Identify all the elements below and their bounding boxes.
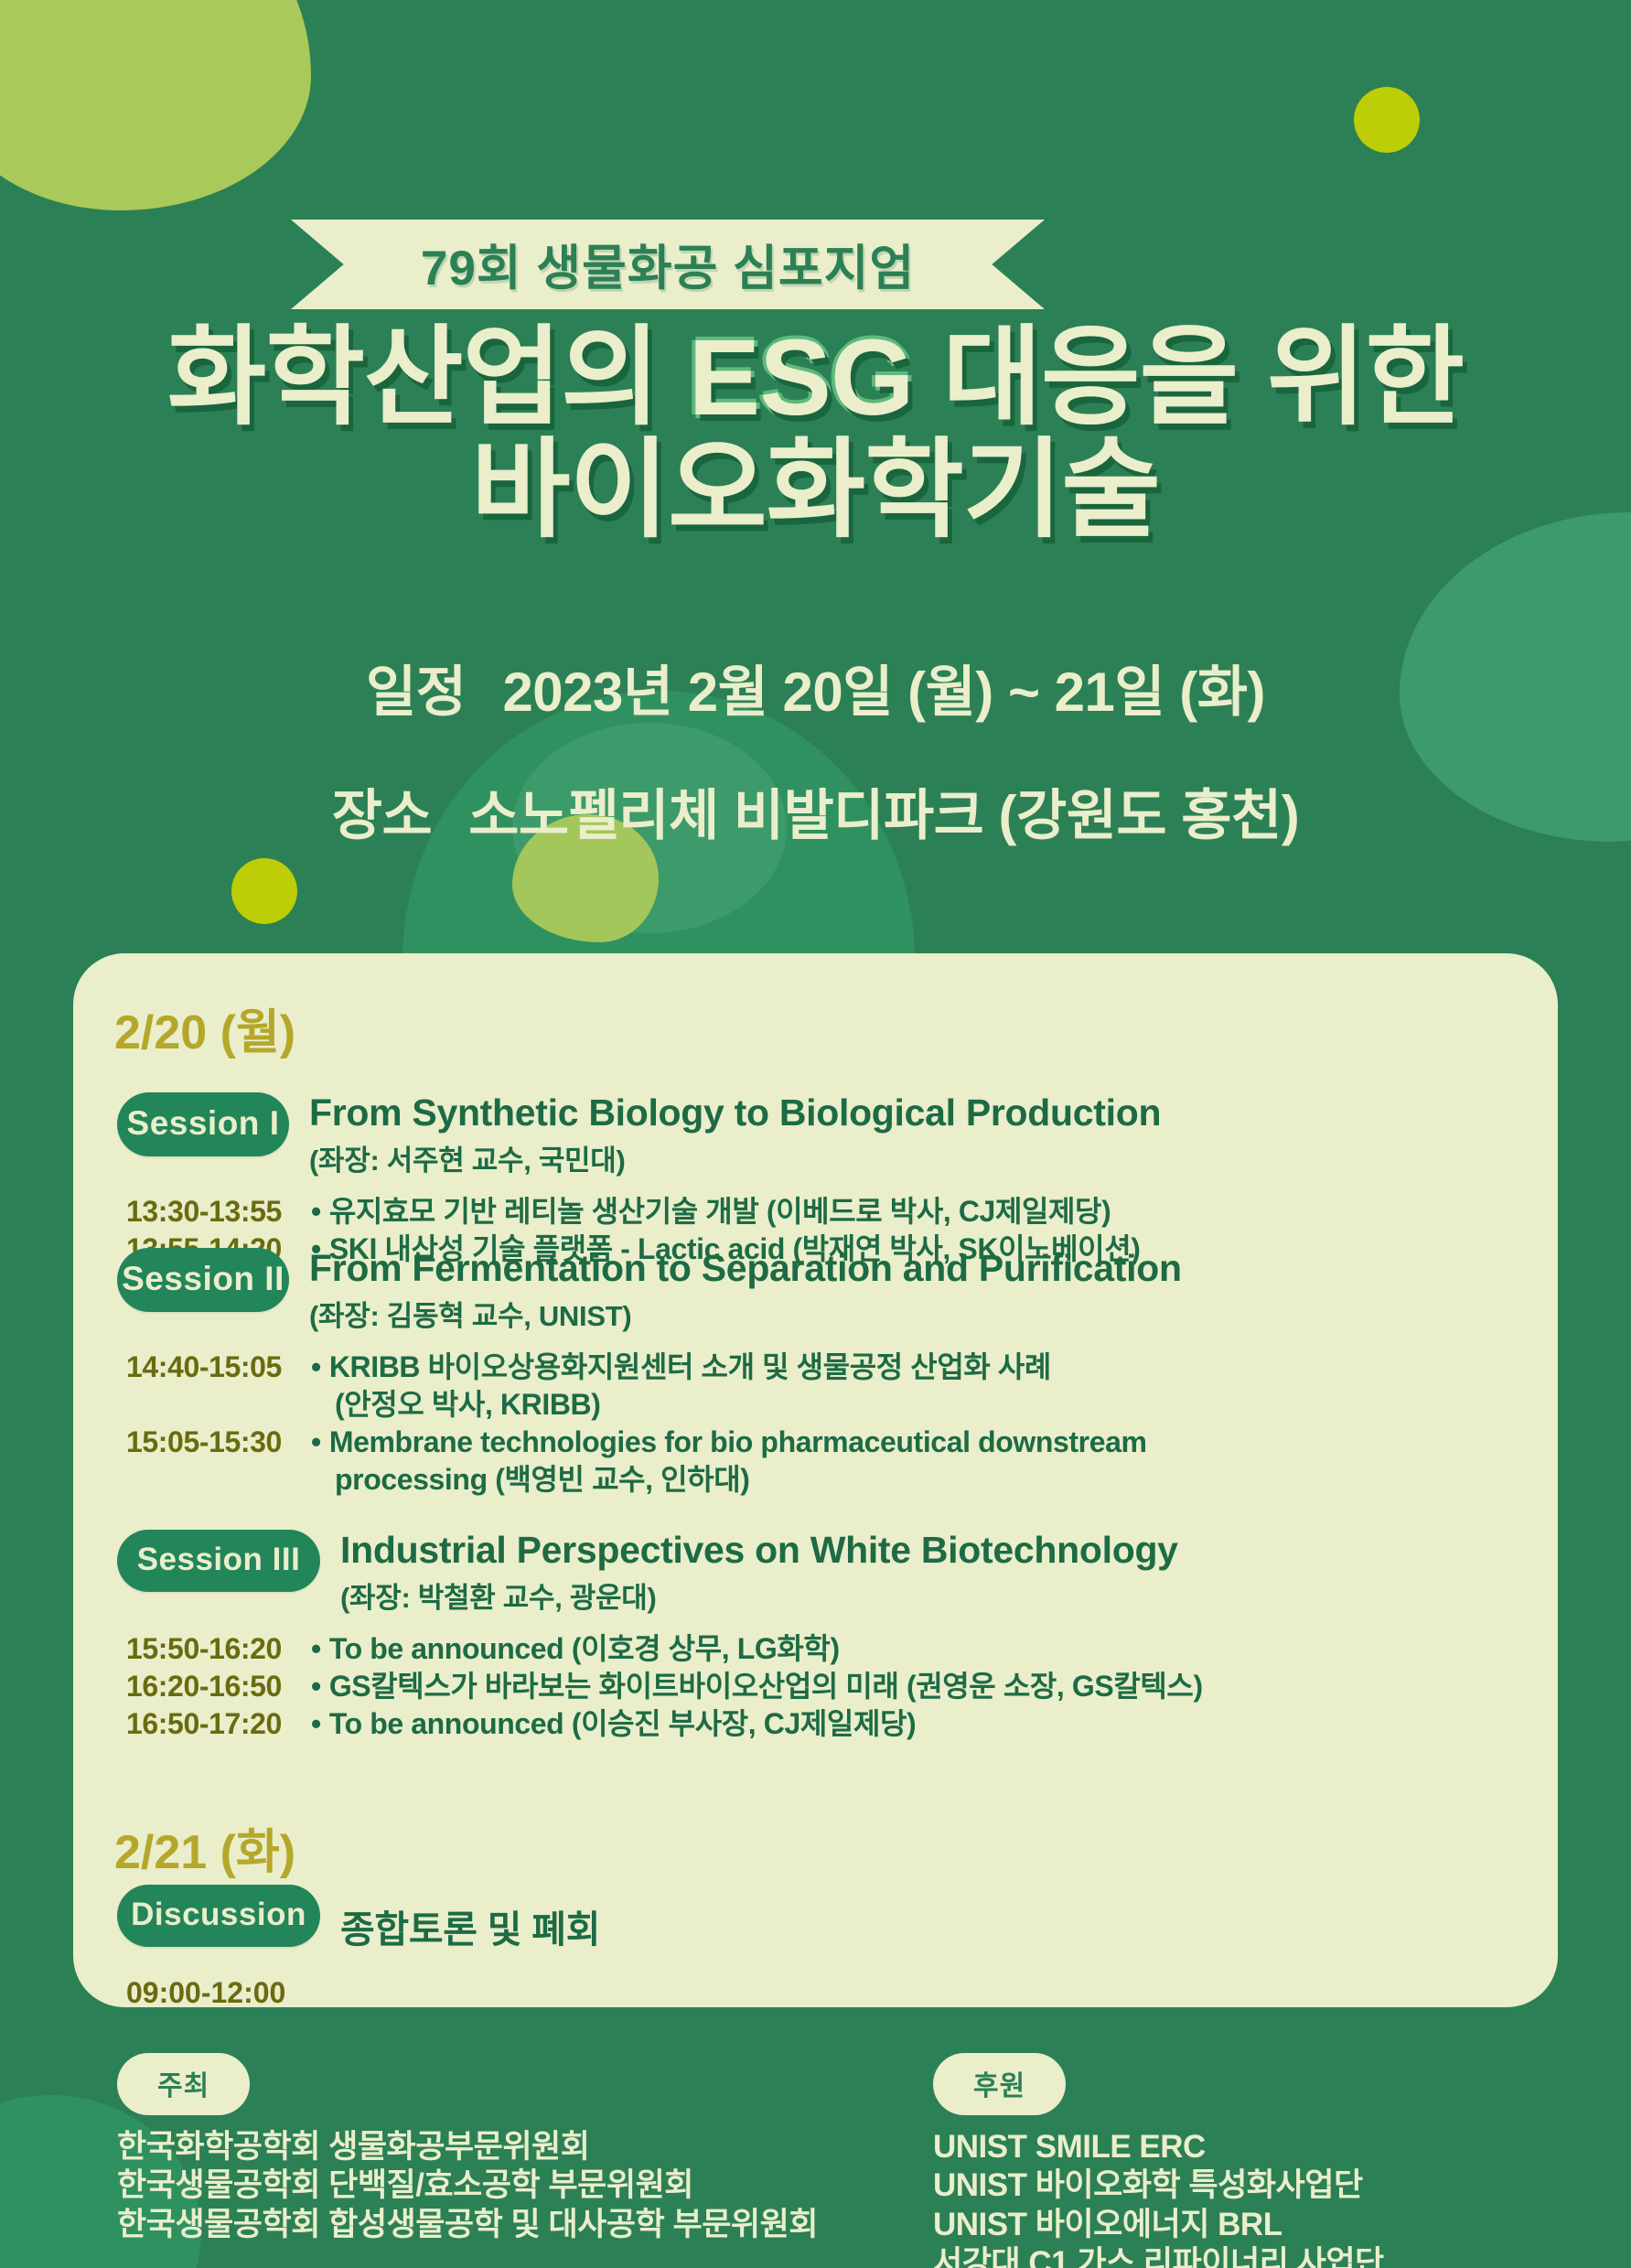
talk-row: 16:50-17:20 •To be announced (이승진 부사장, C… [117, 1705, 1526, 1743]
sponsor-list: UNIST SMILE ERC UNIST 바이오화학 특성화사업단 UNIST… [933, 2128, 1384, 2268]
talk-time: 16:20-16:50 [117, 1668, 311, 1705]
decor-dot-top-right [1354, 87, 1420, 153]
talk-continuation: (안정오 박사, KRIBB) [311, 1386, 1526, 1424]
event-place-value: 소노펠리체 비발디파크 (강원도 홍천) [468, 785, 1299, 846]
discussion-title: 종합토론 및 폐회 [340, 1886, 600, 1953]
host-line: 한국생물공학회 단백질/효소공학 부문위원회 [117, 2166, 818, 2205]
talk-text: •유지효모 기반 레티놀 생산기술 개발 (이베드로 박사, CJ제일제당) [311, 1193, 1526, 1231]
decor-blob-top-left [0, 0, 311, 210]
session-pill-3: Session III [117, 1530, 320, 1592]
page-title: 화학산업의 ESG 대응을 위한 바이오화학기술 [0, 322, 1631, 546]
host-tag: 주최 [117, 2053, 250, 2115]
talk-row: 15:05-15:30 •Membrane technologies for b… [117, 1424, 1526, 1499]
session-pill-discussion: Discussion [117, 1885, 320, 1947]
title-line-1-part1: 화학산업의 [167, 317, 689, 438]
talk-list-2: 14:40-15:05 •KRIBB 바이오상용화지원센터 소개 및 생물공정 … [117, 1349, 1526, 1499]
session-block-3: Session III Industrial Perspectives on W… [117, 1530, 1526, 1743]
talk-time: 14:40-15:05 [117, 1349, 311, 1386]
title-line-1: 화학산업의 ESG 대응을 위한 [0, 322, 1631, 435]
bullet-icon: • [311, 1350, 321, 1383]
session-title-2: From Fermentation to Separation and Puri… [309, 1249, 1182, 1288]
session-chair-2: (좌장: 김동혁 교수, UNIST) [309, 1293, 1182, 1334]
bullet-icon: • [311, 1632, 321, 1665]
talk-text: •KRIBB 바이오상용화지원센터 소개 및 생물공정 산업화 사례 (안정오 … [311, 1349, 1526, 1424]
bullet-icon: • [311, 1707, 321, 1740]
talk-title: KRIBB 바이오상용화지원센터 소개 및 생물공정 산업화 사례 [329, 1350, 1051, 1383]
event-info: 일정2023년 2월 20일 (월) ~ 21일 (화) 장소소노펠리체 비발디… [0, 648, 1631, 851]
talk-continuation: processing (백영빈 교수, 인하대) [311, 1461, 1526, 1499]
session-block-1: Session I From Synthetic Biology to Biol… [117, 1092, 1526, 1268]
talk-title: To be announced (이승진 부사장, CJ제일제당) [329, 1707, 917, 1740]
talk-row: 14:40-15:05 •KRIBB 바이오상용화지원센터 소개 및 생물공정 … [117, 1349, 1526, 1424]
session-title-3: Industrial Perspectives on White Biotech… [340, 1531, 1178, 1570]
event-date-label: 일정 [366, 661, 466, 723]
session-pill-1: Session I [117, 1092, 289, 1156]
event-place-label: 장소 [332, 785, 432, 846]
talk-text: •To be announced (이호경 상무, LG화학) [311, 1630, 1526, 1668]
sponsor-column: 후원 UNIST SMILE ERC UNIST 바이오화학 특성화사업단 UN… [933, 2053, 1384, 2268]
title-line-1-part2: 대응을 위한 [914, 317, 1464, 438]
host-line: 한국생물공학회 합성생물공학 및 대사공학 부문위원회 [117, 2206, 818, 2244]
title-accent-esg: ESG [689, 317, 914, 438]
talk-text: •GS칼텍스가 바라보는 화이트바이오산업의 미래 (권영운 소장, GS칼텍스… [311, 1668, 1526, 1705]
talk-text: •To be announced (이승진 부사장, CJ제일제당) [311, 1705, 1526, 1743]
session-block-discussion: Discussion 종합토론 및 폐회 [117, 1885, 1526, 1953]
session-chair-3: (좌장: 박철환 교수, 광운대) [340, 1575, 1178, 1616]
session-title-1: From Synthetic Biology to Biological Pro… [309, 1093, 1161, 1133]
talk-title: Membrane technologies for bio pharmaceut… [329, 1425, 1147, 1458]
talk-text: •Membrane technologies for bio pharmaceu… [311, 1424, 1526, 1499]
schedule-card: 2/20 (월) Session I From Synthetic Biolog… [73, 953, 1558, 2007]
talk-title: GS칼텍스가 바라보는 화이트바이오산업의 미래 (권영운 소장, GS칼텍스) [329, 1670, 1203, 1703]
talk-title: To be announced (이호경 상무, LG화학) [329, 1632, 840, 1665]
talk-row: 16:20-16:50 •GS칼텍스가 바라보는 화이트바이오산업의 미래 (권… [117, 1668, 1526, 1705]
host-column: 주최 한국화학공학회 생물화공부문위원회 한국생물공학회 단백질/효소공학 부문… [117, 2053, 818, 2244]
sponsor-tag: 후원 [933, 2053, 1066, 2115]
session-pill-2: Session II [117, 1248, 289, 1312]
day-heading-2: 2/21 (화) [114, 1813, 295, 1882]
ribbon-label: 79회 생물화공 심포지엄 [421, 230, 915, 299]
talk-list-3: 15:50-16:20 •To be announced (이호경 상무, LG… [117, 1630, 1526, 1743]
poster-footer: 주최 한국화학공학회 생물화공부문위원회 한국생물공학회 단백질/효소공학 부문… [0, 2053, 1631, 2268]
title-line-2: 바이오화학기술 [0, 435, 1631, 547]
bullet-icon: • [311, 1425, 321, 1458]
talk-title: 유지효모 기반 레티놀 생산기술 개발 (이베드로 박사, CJ제일제당) [329, 1195, 1111, 1228]
bullet-icon: • [311, 1195, 321, 1228]
event-ribbon: 79회 생물화공 심포지엄 [291, 220, 1045, 309]
event-date-value: 2023년 2월 20일 (월) ~ 21일 (화) [502, 661, 1265, 723]
poster-root: 79회 생물화공 심포지엄 화학산업의 ESG 대응을 위한 바이오화학기술 일… [0, 0, 1631, 2268]
session-block-2: Session II From Fermentation to Separati… [117, 1248, 1526, 1499]
sponsor-line: UNIST 바이오화학 특성화사업단 [933, 2166, 1384, 2205]
talk-row: 13:30-13:55 •유지효모 기반 레티놀 생산기술 개발 (이베드로 박… [117, 1193, 1526, 1231]
host-list: 한국화학공학회 생물화공부문위원회 한국생물공학회 단백질/효소공학 부문위원회… [117, 2128, 818, 2244]
talk-time: 16:50-17:20 [117, 1705, 311, 1743]
host-line: 한국화학공학회 생물화공부문위원회 [117, 2128, 818, 2166]
sponsor-line: UNIST 바이오에너지 BRL [933, 2206, 1384, 2244]
talk-time: 15:50-16:20 [117, 1630, 311, 1668]
talk-time: 13:30-13:55 [117, 1193, 311, 1231]
event-date-row: 일정2023년 2월 20일 (월) ~ 21일 (화) [0, 648, 1631, 727]
discussion-time: 09:00-12:00 [126, 1976, 285, 2010]
event-place-row: 장소소노펠리체 비발디파크 (강원도 홍천) [0, 771, 1631, 851]
sponsor-line: 서강대 C1 가스 리파이너리 사업단 [933, 2244, 1384, 2268]
talk-row: 15:50-16:20 •To be announced (이호경 상무, LG… [117, 1630, 1526, 1668]
day-heading-1: 2/20 (월) [114, 994, 295, 1062]
decor-dot-left [231, 858, 297, 924]
session-chair-1: (좌장: 서주현 교수, 국민대) [309, 1137, 1161, 1178]
bullet-icon: • [311, 1670, 321, 1703]
sponsor-line: UNIST SMILE ERC [933, 2128, 1384, 2166]
talk-time: 15:05-15:30 [117, 1424, 311, 1461]
